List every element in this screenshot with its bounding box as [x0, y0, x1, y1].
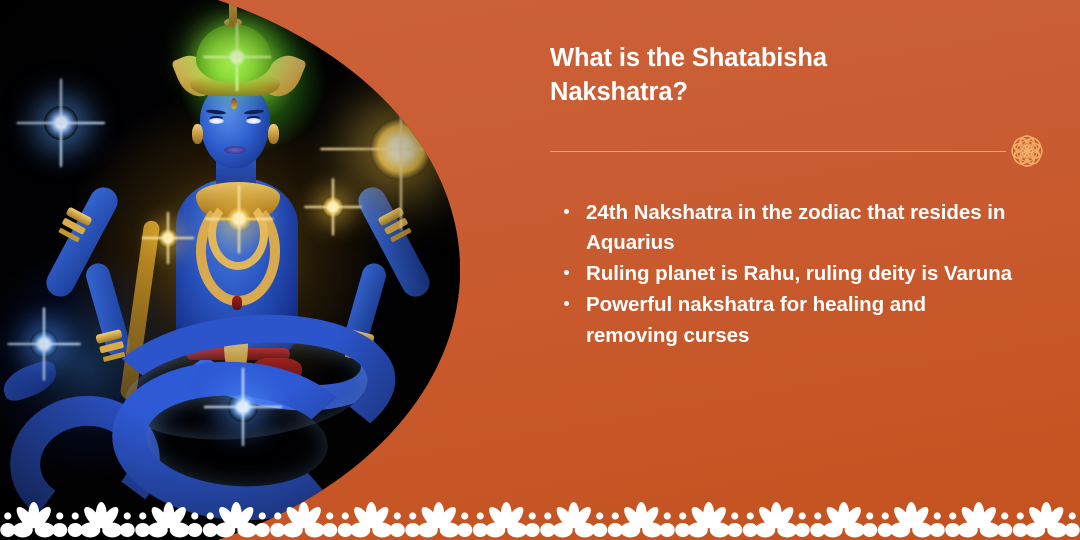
bullet-list: 24th Nakshatra in the zodiac that reside… — [548, 198, 1018, 352]
divider — [550, 144, 1050, 158]
photo-vignette — [0, 0, 470, 540]
mandala-rosette-icon — [1004, 128, 1050, 174]
content-column: What is the Shatabisha Nakshatra? 24th N… — [548, 0, 1058, 540]
slide-canvas: What is the Shatabisha Nakshatra? 24th N… — [0, 0, 1080, 540]
bullet-dot-icon — [564, 270, 569, 275]
page-title: What is the Shatabisha Nakshatra? — [550, 42, 970, 109]
bullet-dot-icon — [564, 301, 569, 306]
list-item: Ruling planet is Rahu, ruling deity is V… — [548, 259, 1018, 289]
bullet-text: 24th Nakshatra in the zodiac that reside… — [586, 201, 1005, 254]
deity-photo — [0, 0, 470, 540]
list-item: 24th Nakshatra in the zodiac that reside… — [548, 198, 1018, 258]
deity-image-panel — [0, 0, 470, 540]
bullet-dot-icon — [564, 209, 569, 214]
bullet-text: Powerful nakshatra for healing and remov… — [586, 293, 926, 346]
divider-line — [550, 151, 1006, 152]
list-item: Powerful nakshatra for healing and remov… — [548, 290, 1018, 350]
bullet-text: Ruling planet is Rahu, ruling deity is V… — [586, 262, 1012, 285]
